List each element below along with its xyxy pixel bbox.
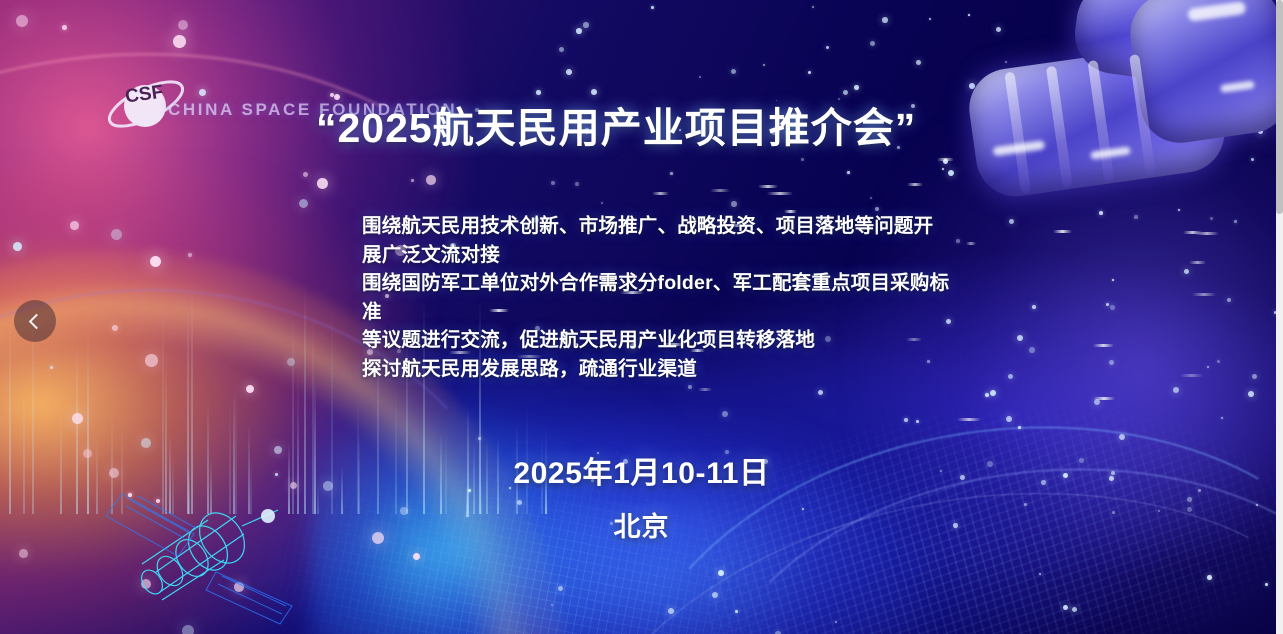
event-banner-slide[interactable]: CSF CHINA SPACE FOUNDATION “2025航天民用产业项目… (0, 0, 1283, 634)
wireframe-satellite-graphic (96, 476, 326, 626)
description-line: 展广泛文流对接 (362, 241, 962, 270)
banner-description: 围绕航天民用技术创新、市场推广、战略投资、项目落地等问题开 展广泛文流对接 围绕… (362, 212, 962, 383)
space-station-graphic (948, 0, 1283, 240)
scrollbar-thumb[interactable] (1276, 0, 1283, 214)
banner-title: “2025航天民用产业项目推介会” (316, 94, 916, 154)
description-line: 探讨航天民用发展思路，疏通行业渠道 (362, 355, 962, 384)
page-scrollbar[interactable] (1276, 0, 1283, 634)
description-line: 等议题进行交流，促进航天民用产业化项目转移落地 (362, 326, 962, 355)
chevron-left-icon (29, 313, 45, 329)
description-line: 围绕航天民用技术创新、市场推广、战略投资、项目落地等问题开 (362, 212, 962, 241)
event-city: 北京 (0, 505, 1283, 544)
carousel-prev-button[interactable] (14, 300, 56, 342)
event-date: 2025年1月10-11日 (0, 448, 1283, 492)
description-line: 围绕国防军工单位对外合作需求分folder、军工配套重点项目采购标准 (362, 269, 962, 326)
